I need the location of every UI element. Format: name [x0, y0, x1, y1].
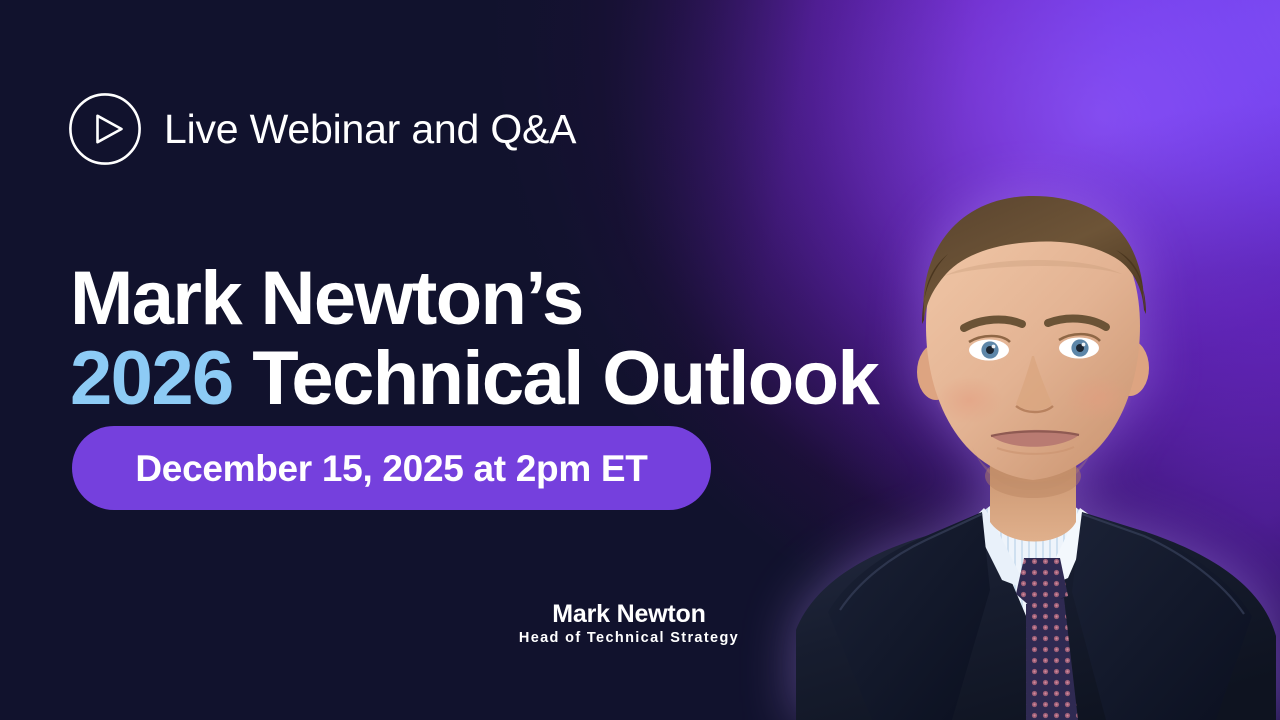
- play-circle-icon: [68, 92, 142, 166]
- webinar-promo-banner: Live Webinar and Q&A Mark Newton’s 2026 …: [0, 0, 1280, 720]
- eyebrow-label: Live Webinar and Q&A: [164, 109, 576, 150]
- eyebrow-row: Live Webinar and Q&A: [68, 92, 576, 166]
- speaker-portrait: [776, 160, 1280, 720]
- speaker-caption: Mark Newton Head of Technical Strategy: [443, 600, 815, 647]
- speaker-name: Mark Newton: [443, 600, 815, 628]
- headline-year-accent: 2026: [70, 336, 233, 421]
- speaker-role: Head of Technical Strategy: [443, 630, 815, 647]
- date-badge-label: December 15, 2025 at 2pm ET: [135, 450, 647, 487]
- date-badge[interactable]: December 15, 2025 at 2pm ET: [72, 426, 711, 510]
